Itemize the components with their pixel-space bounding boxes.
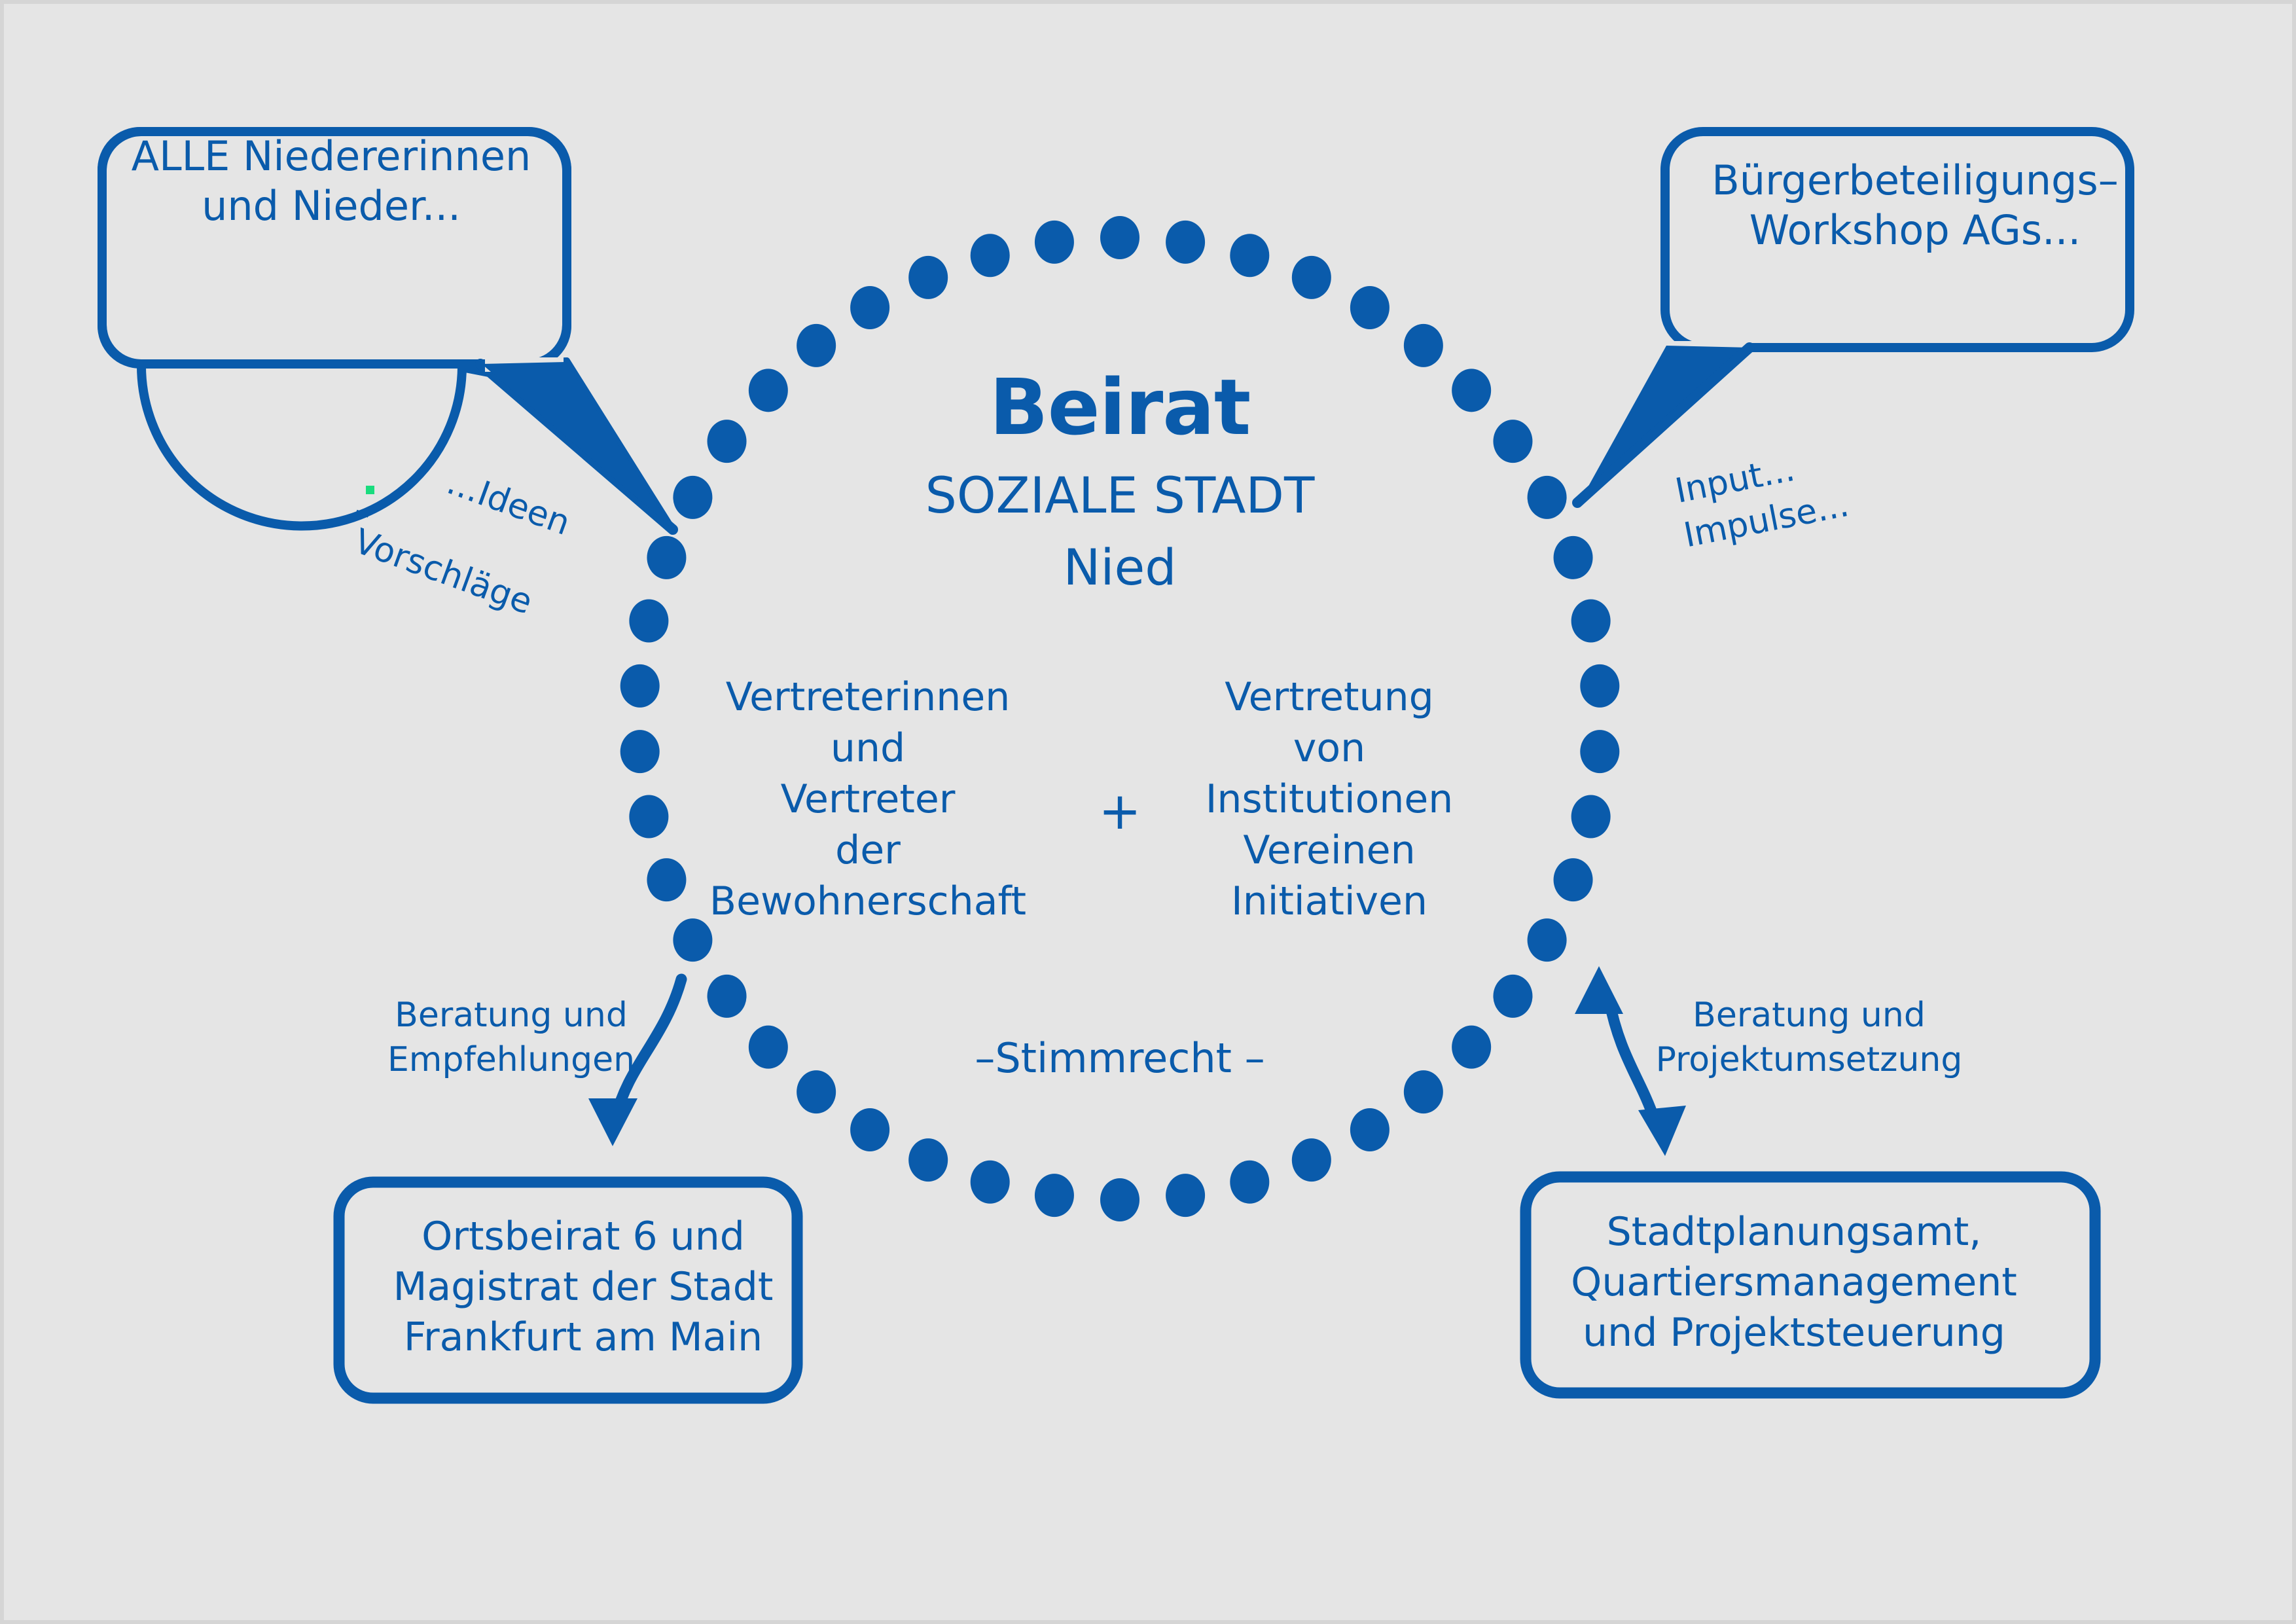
annotation-beratung-empfehlungen: Beratung und Empfehlungen [380,994,642,1082]
circle-dot [1571,599,1611,642]
circle-dot [1493,975,1532,1018]
circle-dot [620,730,660,773]
circle-dot [1230,234,1269,277]
circle-dot [708,420,747,463]
circle-dot [629,599,668,642]
circle-dot [1493,420,1532,463]
box-stadtplanungsamt-label: Stadtplanungsamt, Quartiersmanagement un… [1529,1207,2059,1358]
circle-dot [1350,1108,1390,1151]
circle-dot [647,858,686,901]
bubble-alle-label: ALLE Niedererinnen und Nieder... [96,132,567,232]
circle-dot [1350,286,1390,329]
circle-dot [850,286,889,329]
circle-dot [1100,1178,1139,1221]
circle-dot [708,975,747,1018]
circle-dot [1554,536,1593,579]
circle-footer-stimmrecht: –Stimmrecht – [924,1034,1316,1083]
circle-dot [1292,256,1331,299]
circle-dot [673,476,712,519]
circle-dot [749,369,788,412]
circle-dot [1404,324,1443,367]
circle-dot [1528,476,1567,519]
circle-dot [1528,918,1567,962]
circle-dot [971,234,1010,277]
circle-subtitle: SOZIALE STADT [829,465,1411,526]
circle-dot [620,664,660,708]
circle-dot [749,1026,788,1069]
circle-dot [1452,1026,1491,1069]
plus-operator: + [1071,786,1169,837]
circle-location: Nied [855,537,1385,598]
circle-dot [1166,1174,1205,1217]
circle-dot [1554,858,1593,901]
circle-dot [1035,221,1074,264]
bubble-workshop-label: Bürgerbeteiligungs– Workshop AGs... [1679,156,2151,256]
circle-dot [797,324,836,367]
circle-dot [1571,795,1611,839]
box-ortsbeirat-label: Ortsbeirat 6 und Magistrat der Stadt Fra… [357,1212,809,1362]
circle-dot [1292,1138,1331,1182]
circle-title: Beirat [855,361,1385,455]
circle-dot [1404,1070,1443,1113]
circle-dot [1230,1161,1269,1204]
circle-left-column: Vertreterinnen und Vertreter der Bewohne… [691,672,1045,927]
circle-dot [850,1108,889,1151]
circle-dot [908,256,948,299]
circle-right-column: Vertretung von Institutionen Vereinen In… [1175,672,1483,927]
circle-dot [908,1138,948,1182]
circle-dot [971,1161,1010,1204]
annotation-beratung-projektumsetzung: Beratung und Projektumsetzung [1649,994,1969,1082]
circle-dot [1580,664,1619,708]
circle-dot [797,1070,836,1113]
circle-dot [1580,730,1619,773]
circle-dot [1100,216,1139,259]
circle-dot [1035,1174,1074,1217]
diagram-canvas: ALLE Niedererinnen und Nieder... Bürgerb… [0,0,2296,1624]
circle-dot [1166,221,1205,264]
circle-dot [1452,369,1491,412]
circle-dot [629,795,668,839]
